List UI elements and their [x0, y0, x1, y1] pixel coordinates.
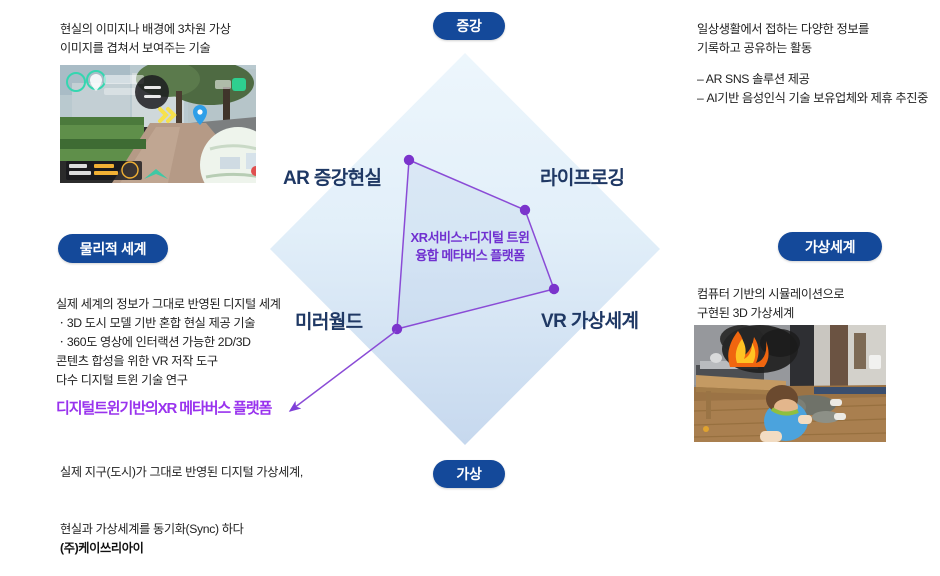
ar-photo-illustration	[60, 65, 256, 183]
brand-headline: 디지털트윈기반의XR 메타버스 플랫폼	[56, 397, 271, 418]
note-mirror-description: 실제 세계의 정보가 그대로 반영된 디지털 세계 ㆍ3D 도시 모델 기반 혼…	[56, 295, 376, 390]
vr-fire-simulation-photo	[694, 325, 886, 442]
data-point-lifelog[interactable]	[520, 205, 530, 215]
data-point-vr[interactable]	[549, 284, 559, 294]
axis-pill-bottom[interactable]: 가상	[433, 460, 505, 488]
brand-footer: 실제 지구(도시)가 그대로 반영된 디지털 가상세계, 현실과 가상세계를 동…	[60, 444, 420, 576]
brand-footer-line2: 현실과 가상세계를 동기화(Sync) 하다	[60, 522, 243, 536]
axis-pill-top[interactable]: 증강	[433, 12, 505, 40]
note-lifelog-summary: 일상생활에서 접하는 다양한 정보를 기록하고 공유하는 활동	[697, 20, 940, 58]
quadrant-label-ar: AR 증강현실	[283, 163, 381, 190]
axis-pill-right[interactable]: 가상세계	[778, 232, 882, 261]
axis-pill-left[interactable]: 물리적 세계	[58, 234, 168, 263]
center-label-line1: XR서비스+디지털 트윈	[386, 229, 554, 247]
vr-photo-illustration	[694, 325, 886, 442]
data-point-ar[interactable]	[404, 155, 414, 165]
note-ar-description: 현실의 이미지나 배경에 3차원 가상 이미지를 겹쳐서 보여주는 기술	[60, 20, 320, 58]
slide-canvas: 증강 가상 물리적 세계 가상세계 AR 증강현실 라이프로깅 미러월드 VR …	[0, 0, 940, 495]
quadrant-label-vr: VR 가상세계	[541, 306, 638, 333]
note-vr-description: 컴퓨터 기반의 시뮬레이션으로 구현된 3D 가상세계	[697, 285, 927, 323]
quadrant-label-lifelog: 라이프로깅	[540, 163, 624, 190]
center-platform-label: XR서비스+디지털 트윈 융합 메타버스 플랫폼	[386, 229, 554, 266]
center-label-line2: 융합 메타버스 플랫폼	[386, 247, 554, 265]
note-lifelog-bullets: – AR SNS 솔루션 제공 – AI기반 음성인식 기술 보유업체와 제휴 …	[697, 70, 940, 108]
brand-company-name: (주)케이쓰리아이	[60, 541, 143, 555]
brand-footer-line2-wrap: 현실과 가상세계를 동기화(Sync) 하다 (주)케이쓰리아이	[60, 501, 420, 558]
ar-navigation-photo	[60, 65, 256, 183]
brand-footer-line1: 실제 지구(도시)가 그대로 반영된 디지털 가상세계,	[60, 463, 420, 482]
